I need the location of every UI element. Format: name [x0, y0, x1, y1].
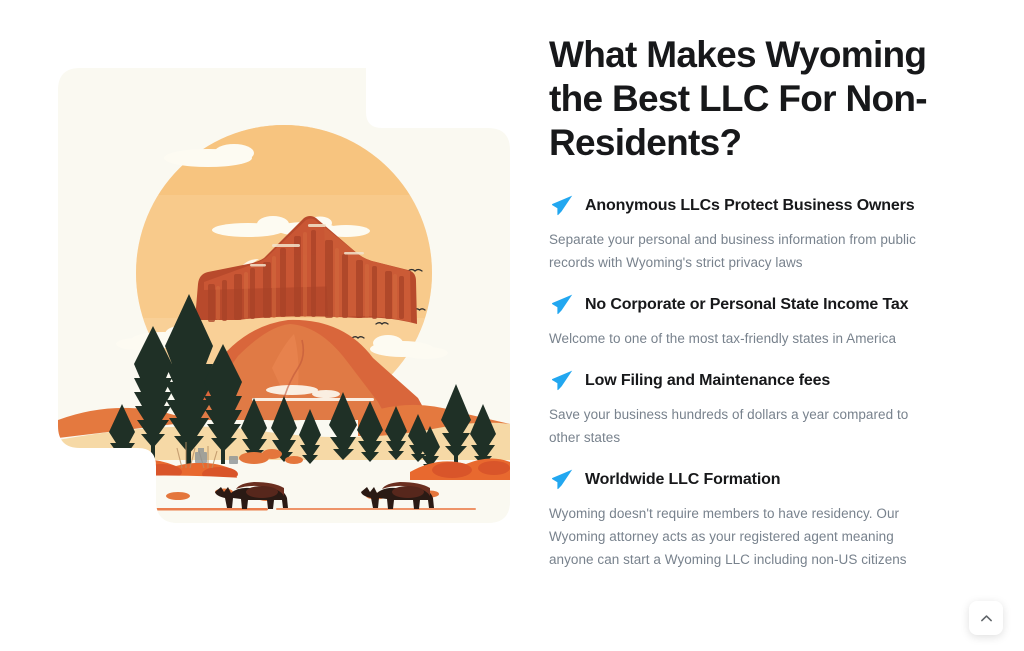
- chevron-up-icon: [980, 612, 993, 625]
- feature-description: Welcome to one of the most tax-friendly …: [549, 327, 939, 350]
- wyoming-landscape-illustration: [58, 68, 510, 523]
- feature-heading-row: Anonymous LLCs Protect Business Owners: [549, 193, 949, 219]
- feature-heading-row: No Corporate or Personal State Income Ta…: [549, 292, 949, 318]
- send-arrow-icon: [549, 292, 575, 318]
- feature-description: Wyoming doesn't require members to have …: [549, 502, 939, 571]
- send-arrow-icon: [549, 193, 575, 219]
- feature-description: Save your business hundreds of dollars a…: [549, 403, 939, 449]
- feature-heading-row: Worldwide LLC Formation: [549, 467, 949, 493]
- send-arrow-icon: [549, 368, 575, 394]
- feature-item: No Corporate or Personal State Income Ta…: [549, 292, 949, 350]
- feature-title: Anonymous LLCs Protect Business Owners: [585, 196, 914, 216]
- page-root: What Makes Wyoming the Best LLC For Non-…: [0, 0, 1024, 651]
- page-title: What Makes Wyoming the Best LLC For Non-…: [549, 33, 949, 165]
- feature-list: Anonymous LLCs Protect Business Owners S…: [549, 193, 949, 571]
- feature-item: Worldwide LLC Formation Wyoming doesn't …: [549, 467, 949, 571]
- feature-title: No Corporate or Personal State Income Ta…: [585, 295, 908, 315]
- illustration-panel: [58, 68, 510, 523]
- feature-heading-row: Low Filing and Maintenance fees: [549, 368, 949, 394]
- feature-title: Worldwide LLC Formation: [585, 470, 780, 490]
- content-column: What Makes Wyoming the Best LLC For Non-…: [549, 33, 949, 589]
- feature-item: Low Filing and Maintenance fees Save you…: [549, 368, 949, 449]
- scroll-to-top-button[interactable]: [969, 601, 1003, 635]
- feature-title: Low Filing and Maintenance fees: [585, 371, 830, 391]
- send-arrow-icon: [549, 467, 575, 493]
- feature-description: Separate your personal and business info…: [549, 228, 939, 274]
- feature-item: Anonymous LLCs Protect Business Owners S…: [549, 193, 949, 274]
